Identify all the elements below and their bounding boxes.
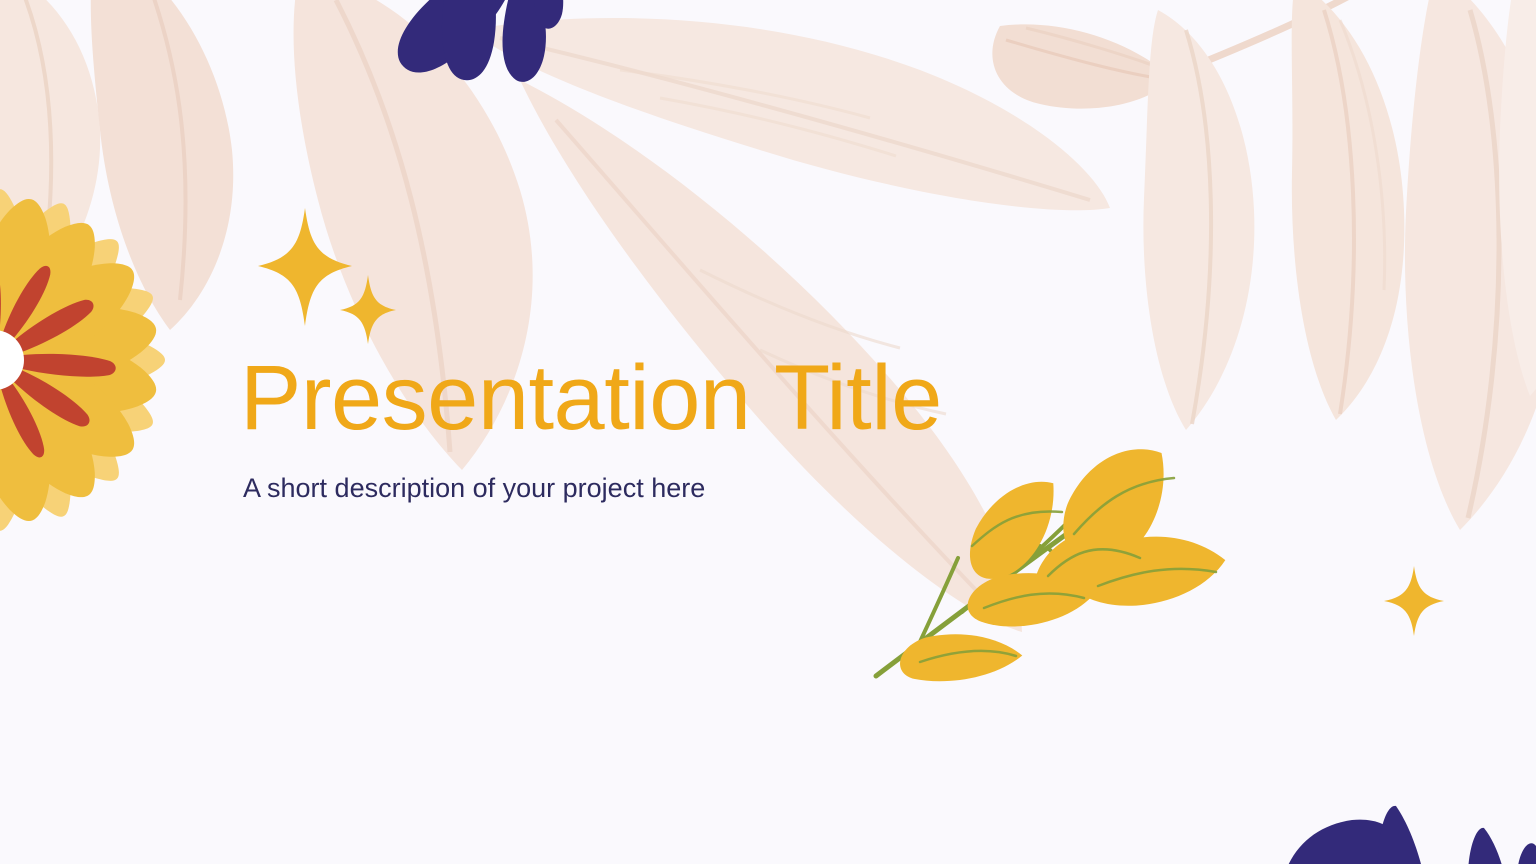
sparkle-small-icon xyxy=(340,275,396,344)
slide-text-block: Presentation Title A short description o… xyxy=(240,352,1120,506)
sparkle-large-icon xyxy=(258,208,352,326)
page-title[interactable]: Presentation Title xyxy=(240,352,1120,446)
sparkle-icon xyxy=(1384,566,1444,636)
slide-subtitle[interactable]: A short description of your project here xyxy=(243,472,1120,506)
presentation-slide: Presentation Title A short description o… xyxy=(0,0,1536,864)
